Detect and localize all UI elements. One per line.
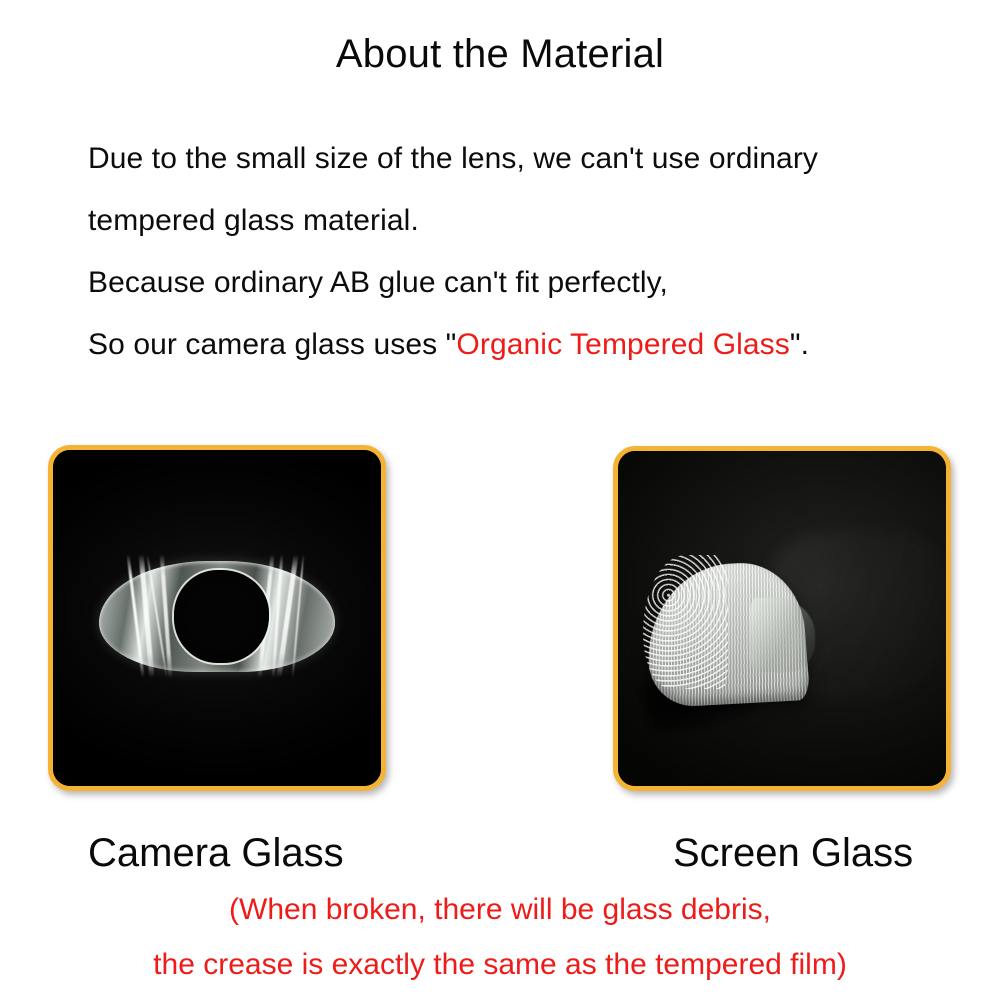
description-line-1: Due to the small size of the lens, we ca… xyxy=(88,128,928,190)
footnote-line-1: (When broken, there will be glass debris… xyxy=(0,890,1000,930)
description-line-2: tempered glass material. xyxy=(88,190,928,252)
description-line-4-suffix: ". xyxy=(790,328,809,361)
description-line-3: Because ordinary AB glue can't fit perfe… xyxy=(88,252,928,314)
camera-glass-photo xyxy=(53,450,381,786)
description-block: Due to the small size of the lens, we ca… xyxy=(88,128,928,376)
lens-cutout-hole xyxy=(174,570,268,663)
description-line-4-prefix: So our camera glass uses " xyxy=(88,328,456,361)
footnote-line-2: the crease is exactly the same as the te… xyxy=(0,945,1000,985)
glass-curl-tail xyxy=(749,598,815,672)
page-title: About the Material xyxy=(0,28,1000,80)
screen-glass-photo-panel[interactable] xyxy=(613,446,951,791)
glass-debris-edge xyxy=(643,555,728,689)
screen-glass-caption: Screen Glass xyxy=(673,830,913,876)
camera-glass-caption: Camera Glass xyxy=(88,830,344,876)
screen-glass-photo xyxy=(618,451,946,786)
glass-crease-streak xyxy=(160,554,173,678)
lens-protector-film-shape xyxy=(99,561,335,672)
organic-tempered-glass-highlight: Organic Tempered Glass xyxy=(456,328,789,361)
camera-glass-photo-panel[interactable] xyxy=(48,445,386,791)
description-line-4: So our camera glass uses "Organic Temper… xyxy=(88,314,928,376)
